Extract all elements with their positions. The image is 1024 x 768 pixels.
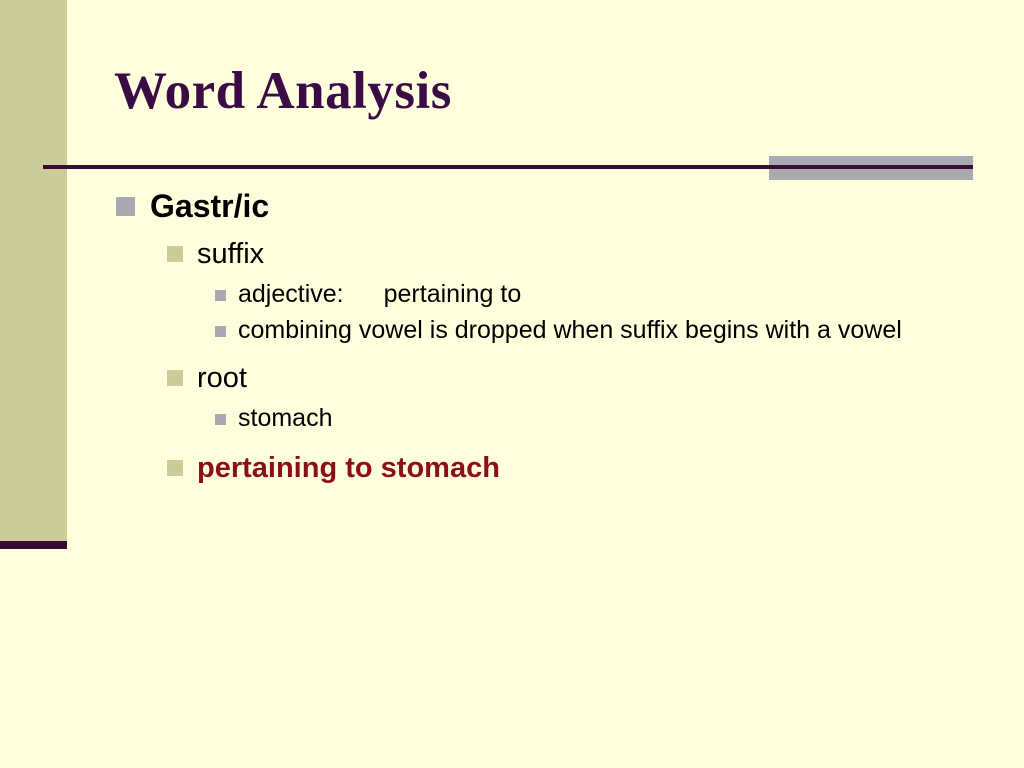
detail-root-meaning: stomach: [238, 401, 938, 435]
square-bullet-icon: [167, 460, 183, 476]
square-bullet-icon: [215, 290, 226, 301]
part-label-root: root: [197, 359, 1024, 397]
square-bullet-icon: [215, 326, 226, 337]
page-title: Word Analysis: [114, 60, 974, 122]
bullet-level3-stomach: stomach: [0, 401, 1024, 435]
detail-combining-vowel-note: combining vowel is dropped when suffix b…: [238, 313, 938, 347]
square-bullet-icon: [167, 246, 183, 262]
detail-adjective-meaning: pertaining to: [384, 280, 522, 308]
square-bullet-icon: [215, 414, 226, 425]
detail-adjective: adjective:pertaining to: [238, 277, 938, 311]
left-accent-foot-bar: [0, 541, 67, 549]
bullet-level3-combining-vowel: combining vowel is dropped when suffix b…: [0, 313, 1024, 347]
square-bullet-icon: [167, 370, 183, 386]
part-label-suffix: suffix: [197, 235, 1024, 273]
bullet-level2-conclusion: pertaining to stomach: [0, 449, 1024, 487]
slide-body: Gastr/ic suffix adjective:pertaining to …: [0, 186, 1024, 491]
slide-canvas: Word Analysis Gastr/ic suffix adjective:…: [0, 0, 1024, 768]
bullet-level2-root: root: [0, 359, 1024, 397]
conclusion-label: pertaining to stomach: [197, 449, 1024, 487]
detail-adjective-kind: adjective:: [238, 280, 344, 308]
title-divider-rule: [43, 165, 973, 169]
bullet-level2-suffix: suffix: [0, 235, 1024, 273]
square-bullet-icon: [116, 197, 135, 216]
bullet-level3-adjective: adjective:pertaining to: [0, 277, 1024, 311]
bullet-level1-term: Gastr/ic: [0, 186, 1024, 226]
term-label: Gastr/ic: [150, 186, 1024, 226]
